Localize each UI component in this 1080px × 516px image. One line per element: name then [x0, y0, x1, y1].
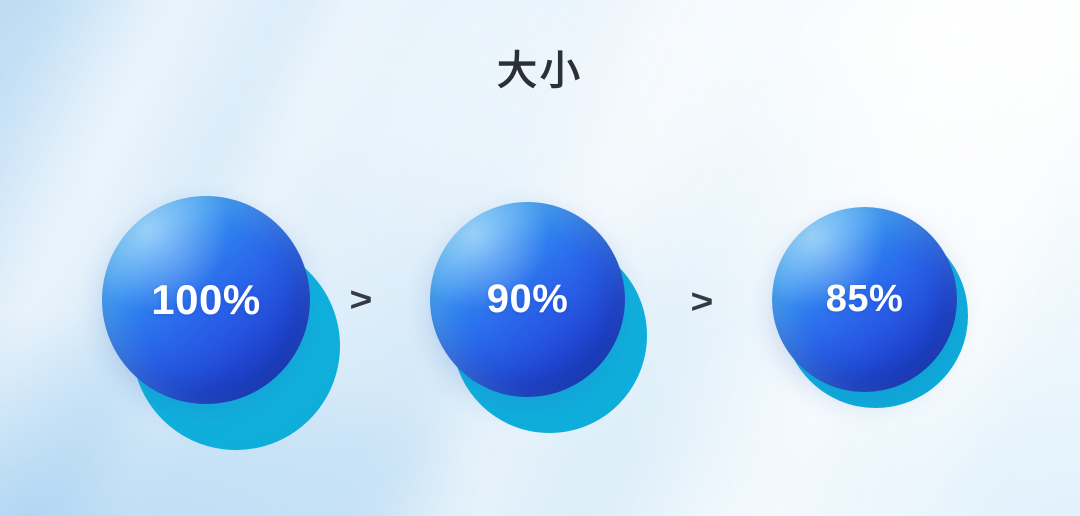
greater-than-separator-2: > [691, 283, 714, 322]
gradient-sphere: 100% [102, 196, 310, 404]
percentage-label: 85% [826, 278, 904, 321]
circle-item-3: 85% [772, 207, 968, 408]
percentage-label: 100% [151, 276, 260, 324]
gradient-sphere: 90% [430, 202, 625, 397]
infographic-canvas: 大小 100%90%85% >> [0, 0, 1080, 516]
percentage-label: 90% [487, 277, 569, 322]
greater-than-separator-1: > [350, 281, 373, 320]
gradient-sphere: 85% [772, 207, 957, 392]
circle-item-1: 100% [102, 196, 340, 450]
circle-item-2: 90% [430, 202, 647, 433]
circle-series: 100%90%85% [0, 0, 1080, 516]
